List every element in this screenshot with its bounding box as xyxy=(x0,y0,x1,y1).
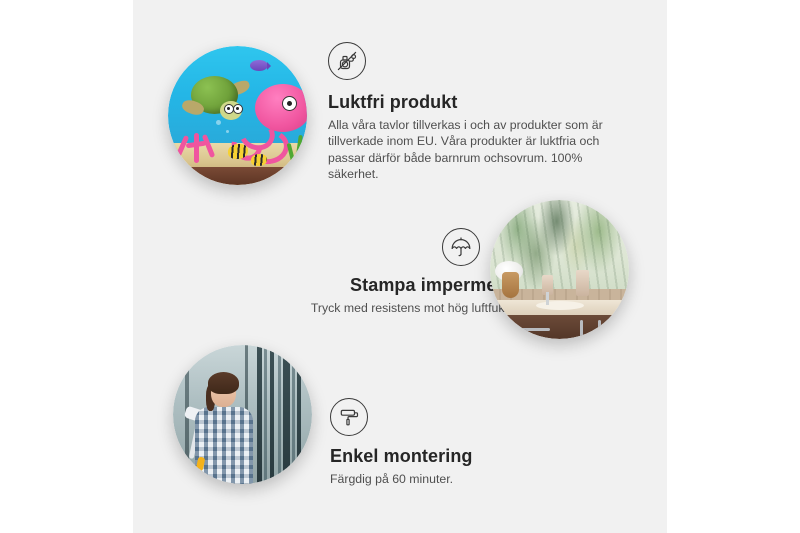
tree-trunk xyxy=(283,345,290,484)
feature-description: Färgdig på 60 minuter. xyxy=(330,471,630,487)
botanical-bathroom-thumbnail[interactable] xyxy=(490,200,629,339)
purple-fish-icon xyxy=(250,60,268,71)
underwater-kids-mural-thumbnail[interactable] xyxy=(168,46,307,185)
screenshot-stage: Luktfri produkt Alla våra tavlor tillver… xyxy=(0,0,800,533)
tree-trunk xyxy=(297,345,301,484)
feature-easy-mounting: Enkel montering Färgdig på 60 minuter. xyxy=(330,398,630,487)
coral-plant xyxy=(176,129,220,163)
wood-cabinet xyxy=(490,315,629,339)
feature-title: Enkel montering xyxy=(330,446,630,467)
feature-title: Luktfri produkt xyxy=(328,92,624,113)
bubble-icon xyxy=(216,120,221,125)
icon-wrapper xyxy=(328,42,624,80)
yellow-fish-icon xyxy=(228,144,248,159)
cabinet-handle xyxy=(520,328,550,331)
icon-wrapper xyxy=(193,228,538,266)
person-plaid-shirt xyxy=(195,407,253,484)
content-panel: Luktfri produkt Alla våra tavlor tillver… xyxy=(133,0,667,533)
cabinet-handle xyxy=(598,320,601,339)
turtle-pupil xyxy=(227,107,230,110)
faucet xyxy=(546,292,549,305)
person-hair xyxy=(208,372,239,394)
turtle-pupil xyxy=(236,107,239,110)
paint-roller-icon xyxy=(330,398,368,436)
tree-branch xyxy=(292,345,295,484)
tree-branch xyxy=(278,345,281,484)
no-fragrance-icon xyxy=(328,42,366,80)
tree-branch xyxy=(264,345,267,484)
feature-description: Alla våra tavlor tillverkas i och av pro… xyxy=(328,117,618,183)
octopus-head xyxy=(255,84,307,132)
feature-odour-free: Luktfri produkt Alla våra tavlor tillver… xyxy=(328,42,624,183)
octopus-pupil xyxy=(287,101,292,106)
feature-waterproof-print: Stampa impermeabile Tryck med resistens … xyxy=(193,228,538,316)
tree-trunk xyxy=(270,345,274,484)
forest-installer-thumbnail[interactable] xyxy=(173,345,312,484)
cabinet-handle xyxy=(580,320,583,339)
bathroom-photo xyxy=(490,200,629,339)
feature-description: Tryck med resistens mot hög luftfuktighe… xyxy=(193,300,538,316)
bubble-icon xyxy=(226,130,229,133)
icon-wrapper xyxy=(330,398,630,436)
decor-bottle xyxy=(576,270,589,296)
decor-vase xyxy=(502,272,519,298)
umbrella-icon xyxy=(442,228,480,266)
tree-trunk xyxy=(257,345,262,484)
ocean-dark-foreground xyxy=(168,167,307,185)
yellow-fish-icon xyxy=(251,154,267,166)
ocean-illustration xyxy=(168,46,307,185)
forest-photo xyxy=(173,345,312,484)
feature-title: Stampa impermeabile xyxy=(193,275,538,296)
